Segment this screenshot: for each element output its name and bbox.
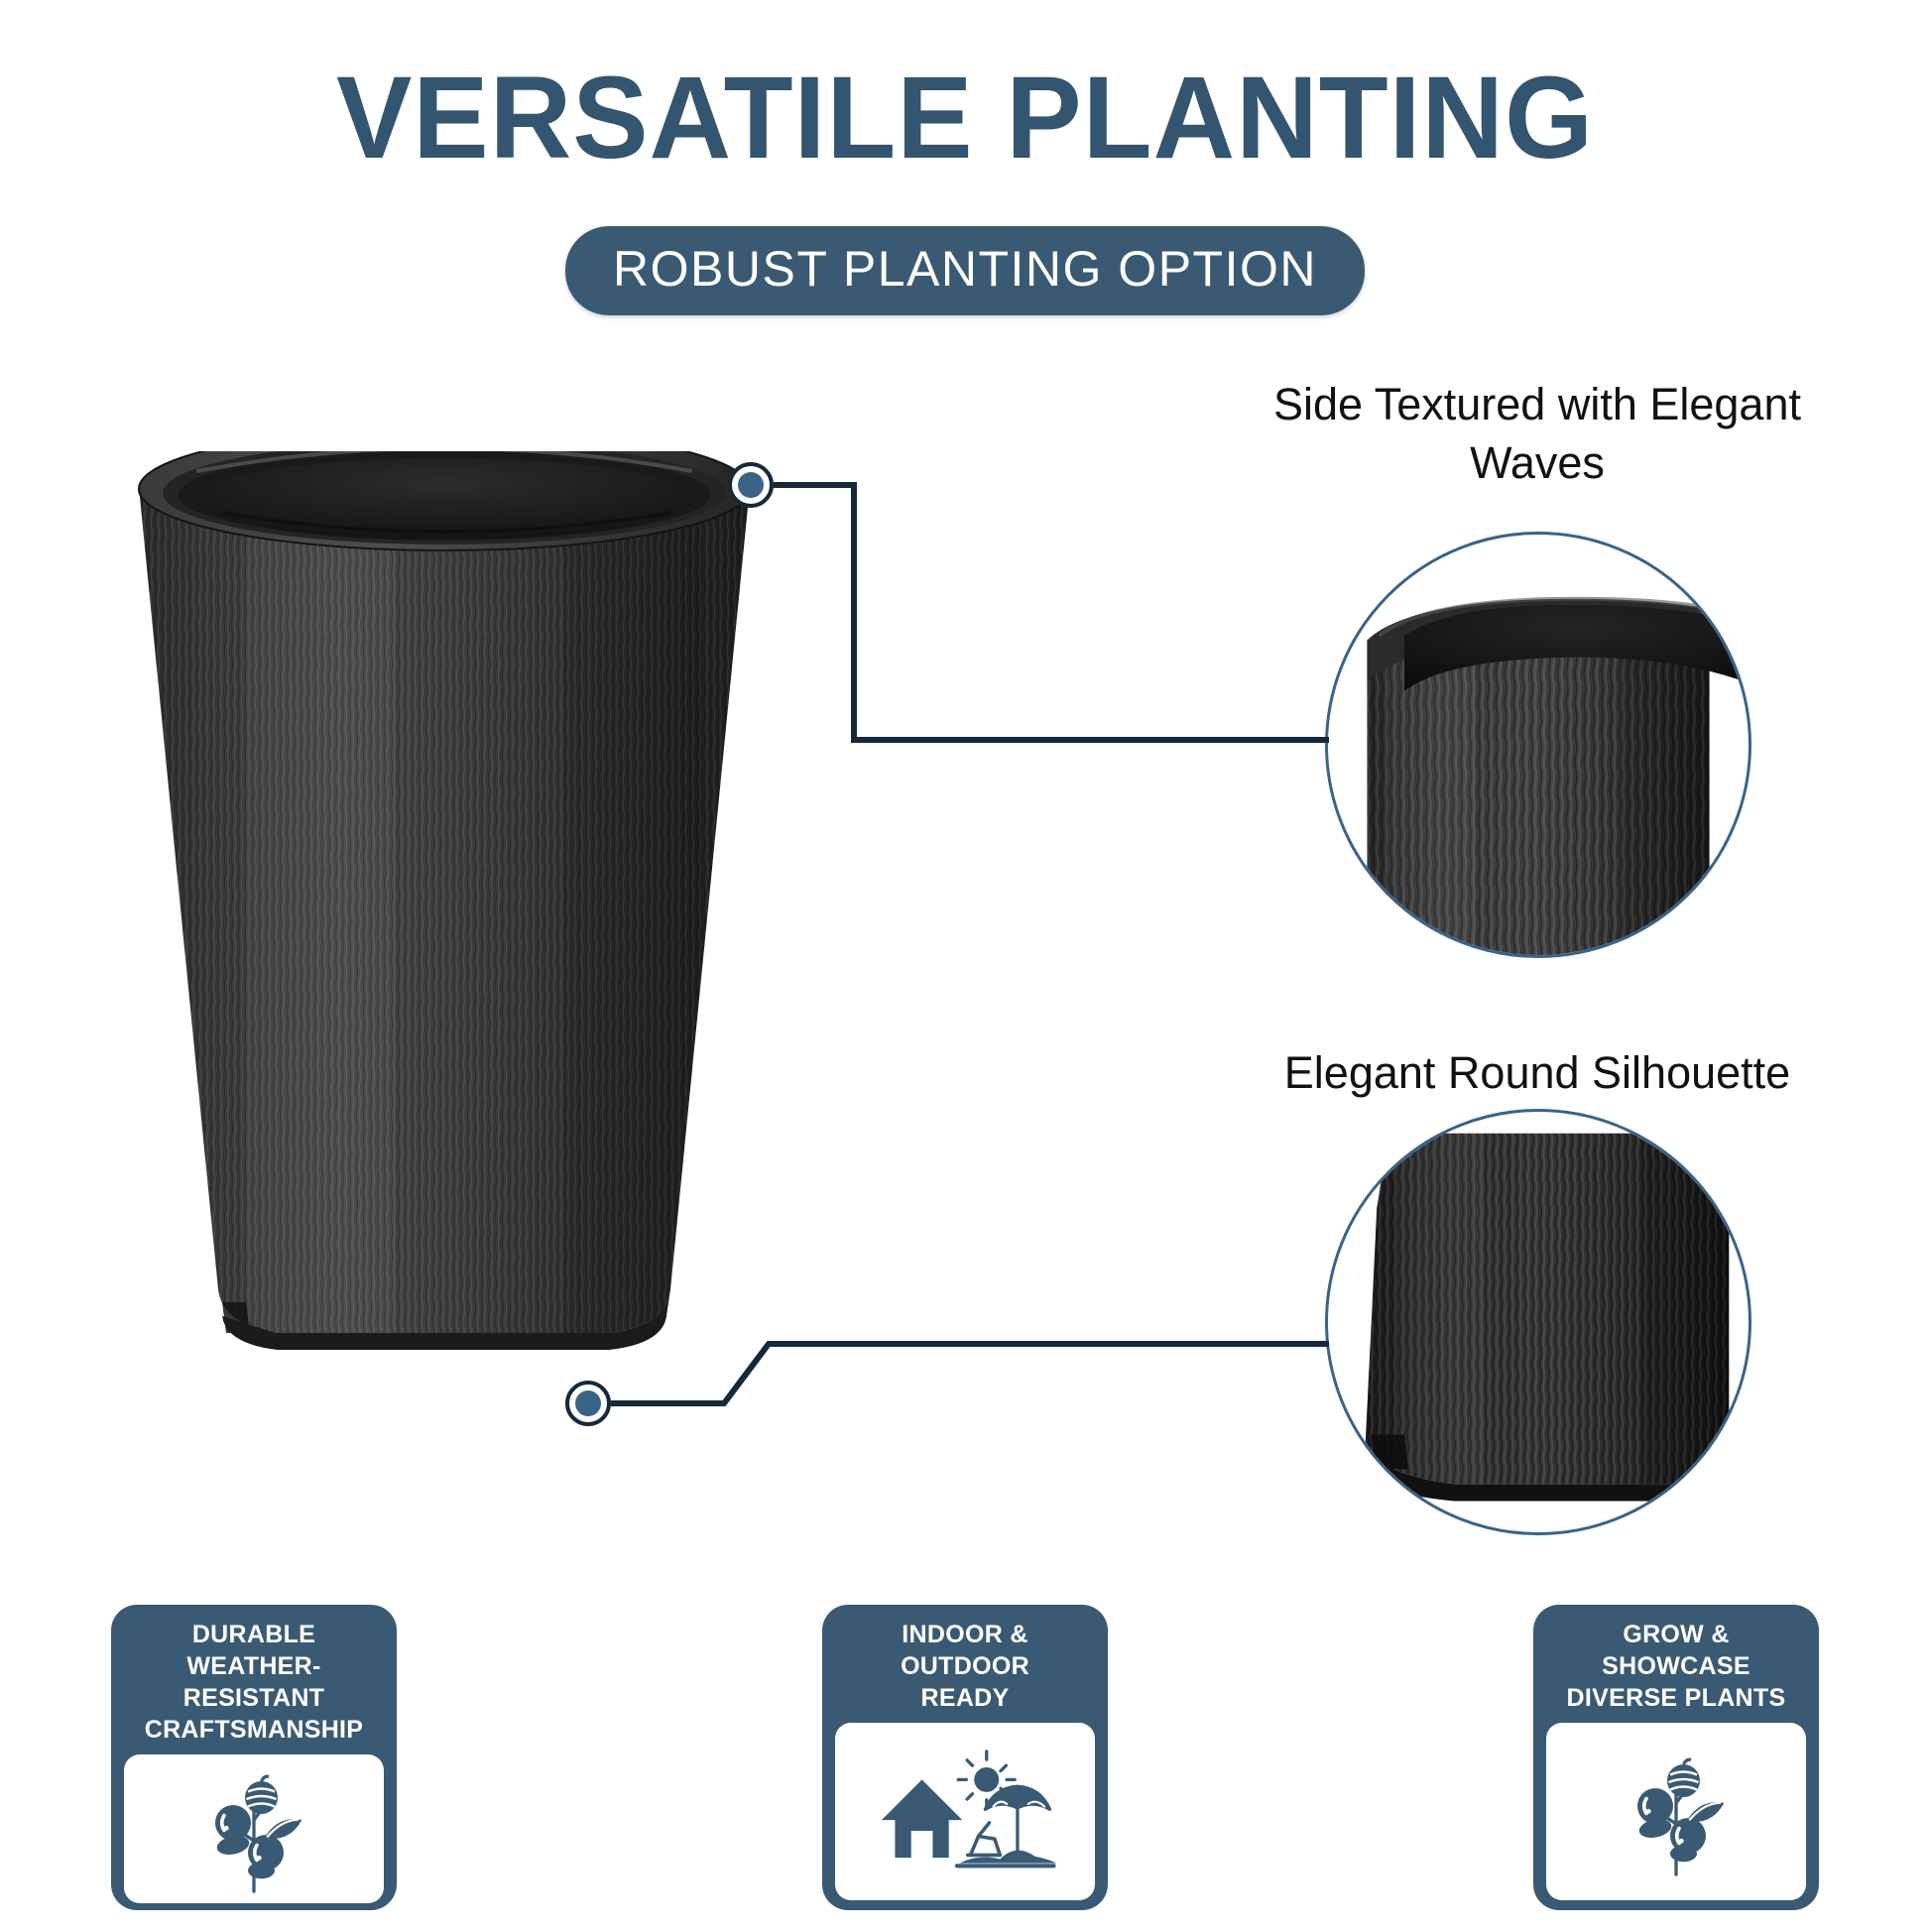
callout-marker-base[interactable] — [565, 1381, 611, 1426]
detail-circle-rim-texture — [1325, 532, 1751, 958]
detail-circle-base-silhouette — [1325, 1109, 1751, 1535]
callout-marker-rim[interactable] — [728, 462, 774, 508]
product-image-planter — [127, 451, 762, 1369]
badge-grow-showcase-plants[interactable]: GROW & SHOWCASE DIVERSE PLANTS — [1533, 1605, 1819, 1910]
subtitle-pill: ROBUST PLANTING OPTION — [565, 226, 1365, 315]
badge-title: INDOOR & OUTDOOR READY — [832, 1619, 1098, 1714]
badge-title: GROW & SHOWCASE DIVERSE PLANTS — [1543, 1619, 1809, 1714]
page-title: VERSATILE PLANTING — [29, 58, 1901, 181]
berry-branch-icon — [1602, 1738, 1750, 1886]
lounge-chair-icon — [968, 1822, 1001, 1855]
house-sun-beach-icon — [871, 1743, 1059, 1881]
callout-label-round-silhouette: Elegant Round Silhouette — [1220, 1043, 1855, 1102]
berry-branch-icon — [180, 1754, 328, 1903]
badge-icon-card — [835, 1723, 1095, 1900]
badge-title: DURABLE WEATHER-RESISTANT CRAFTSMANSHIP — [121, 1619, 387, 1746]
badge-indoor-outdoor-ready[interactable]: INDOOR & OUTDOOR READY — [822, 1605, 1108, 1910]
feature-badges: DURABLE WEATHER-RESISTANT CRAFTSMANSHIP — [0, 1605, 1930, 1932]
badge-icon-card — [1546, 1723, 1806, 1900]
callout-label-side-texture: Side Textured with Elegant Waves — [1220, 375, 1855, 493]
badge-icon-card — [124, 1754, 384, 1903]
infographic-canvas: VERSATILE PLANTING ROBUST PLANTING OPTIO… — [0, 0, 1930, 1930]
connector-line-top — [774, 485, 1329, 740]
house-icon — [882, 1779, 962, 1858]
badge-durable-craftsmanship[interactable]: DURABLE WEATHER-RESISTANT CRAFTSMANSHIP — [111, 1605, 397, 1910]
